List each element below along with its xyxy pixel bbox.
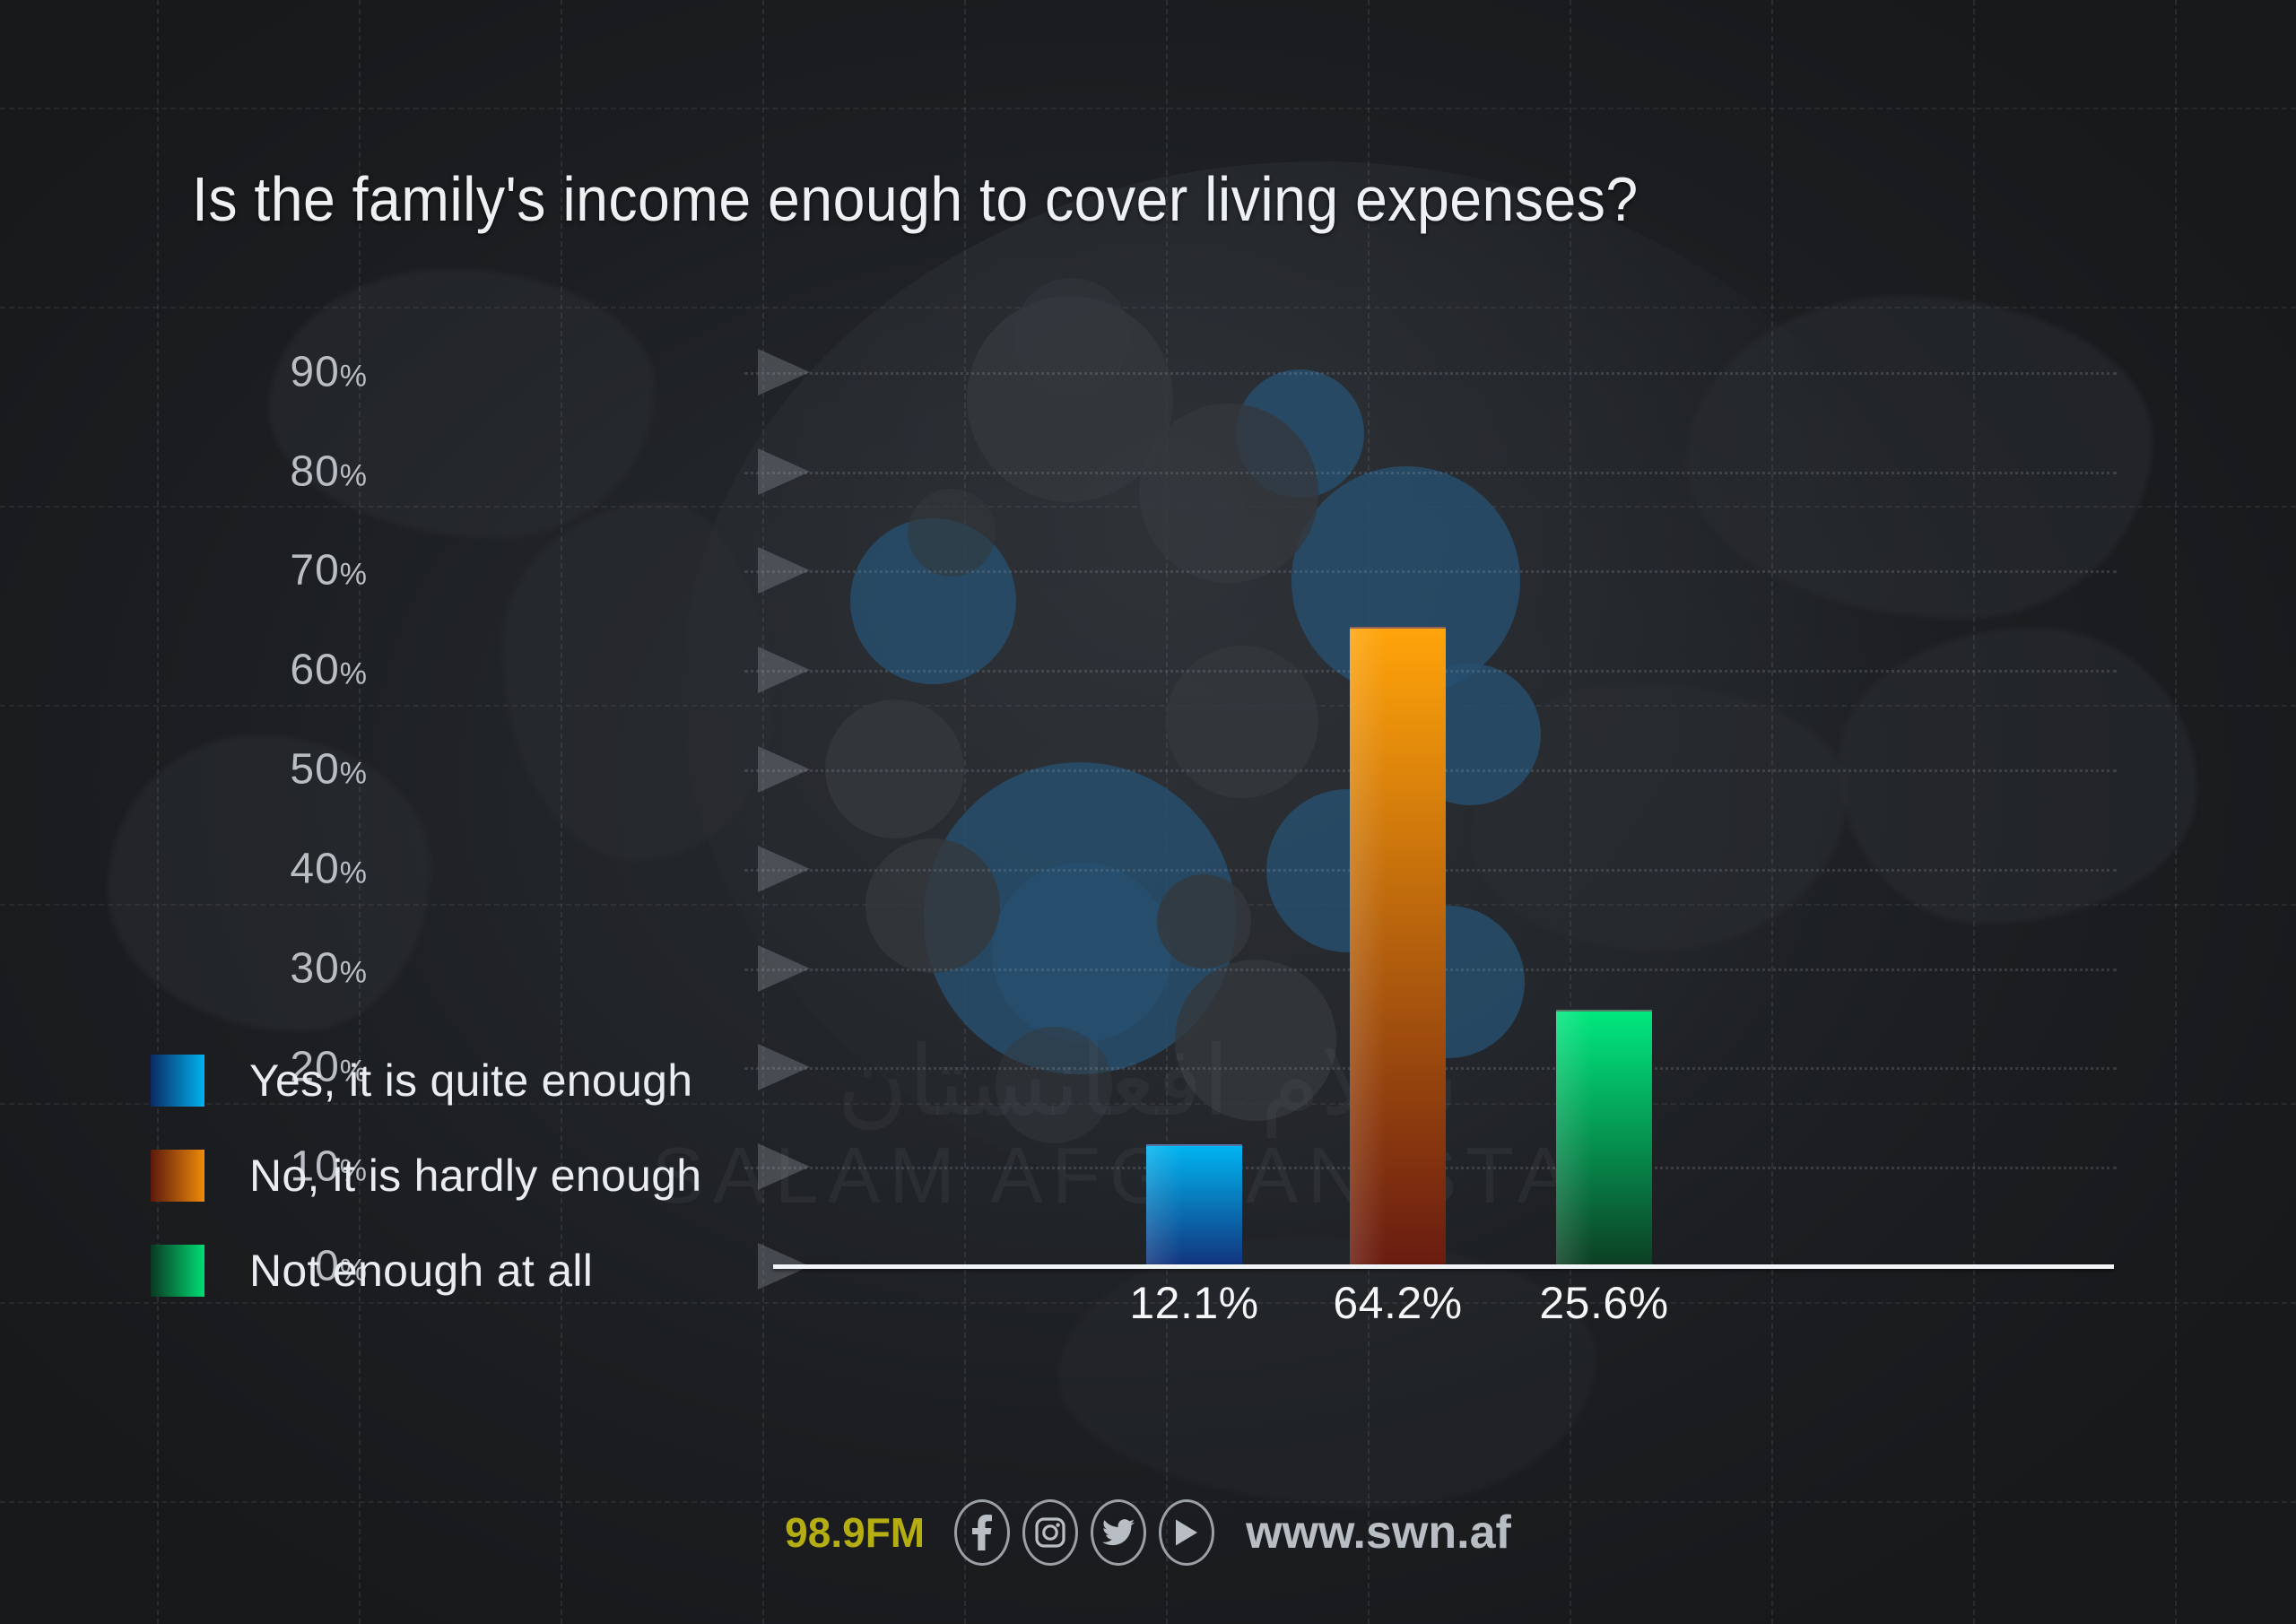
chart-plot-area: 90%80%70%60%50%40%30%20%10%0% 12.1%64.2%…: [0, 0, 2296, 1624]
y-axis-tick-label: 40%: [99, 844, 368, 893]
bar-2[interactable]: [1350, 627, 1446, 1264]
y-axis-tick-label: 30%: [99, 943, 368, 993]
y-axis-tick-label: 60%: [99, 646, 368, 695]
radio-frequency-label: 98.9FM: [785, 1508, 925, 1557]
website-url[interactable]: www.swn.af: [1246, 1506, 1511, 1559]
y-axis-tick-label: 80%: [99, 447, 368, 496]
chart-legend: Yes, it is quite enoughNo, it is hardly …: [151, 1033, 701, 1318]
twitter-icon[interactable]: [1091, 1499, 1146, 1566]
gridline: [744, 372, 2117, 375]
y-axis-tick-label: 90%: [99, 347, 368, 396]
legend-label: No, it is hardly enough: [249, 1150, 701, 1202]
bar-value-label: 25.6%: [1488, 1277, 1721, 1329]
legend-label: Not enough at all: [249, 1245, 593, 1297]
legend-swatch: [151, 1055, 204, 1107]
bar-value-label: 64.2%: [1282, 1277, 1515, 1329]
facebook-icon[interactable]: [954, 1499, 1010, 1566]
bar-value-label: 12.1%: [1078, 1277, 1311, 1329]
legend-item-3[interactable]: Not enough at all: [151, 1223, 701, 1318]
gridline: [744, 472, 2117, 474]
legend-item-2[interactable]: No, it is hardly enough: [151, 1128, 701, 1223]
legend-swatch: [151, 1245, 204, 1297]
instagram-icon[interactable]: [1022, 1499, 1078, 1566]
youtube-play-icon[interactable]: [1159, 1499, 1214, 1566]
gridline: [744, 570, 2117, 573]
y-axis-tick-label: 70%: [99, 546, 368, 595]
legend-item-1[interactable]: Yes, it is quite enough: [151, 1033, 701, 1128]
legend-label: Yes, it is quite enough: [249, 1055, 692, 1107]
footer-branding: 98.9FM www.swn.af: [0, 1499, 2296, 1566]
bar-3[interactable]: [1556, 1010, 1652, 1264]
x-axis-line: [773, 1264, 2114, 1269]
bar-1[interactable]: [1146, 1144, 1242, 1264]
legend-swatch: [151, 1150, 204, 1202]
y-axis-tick-label: 50%: [99, 745, 368, 795]
